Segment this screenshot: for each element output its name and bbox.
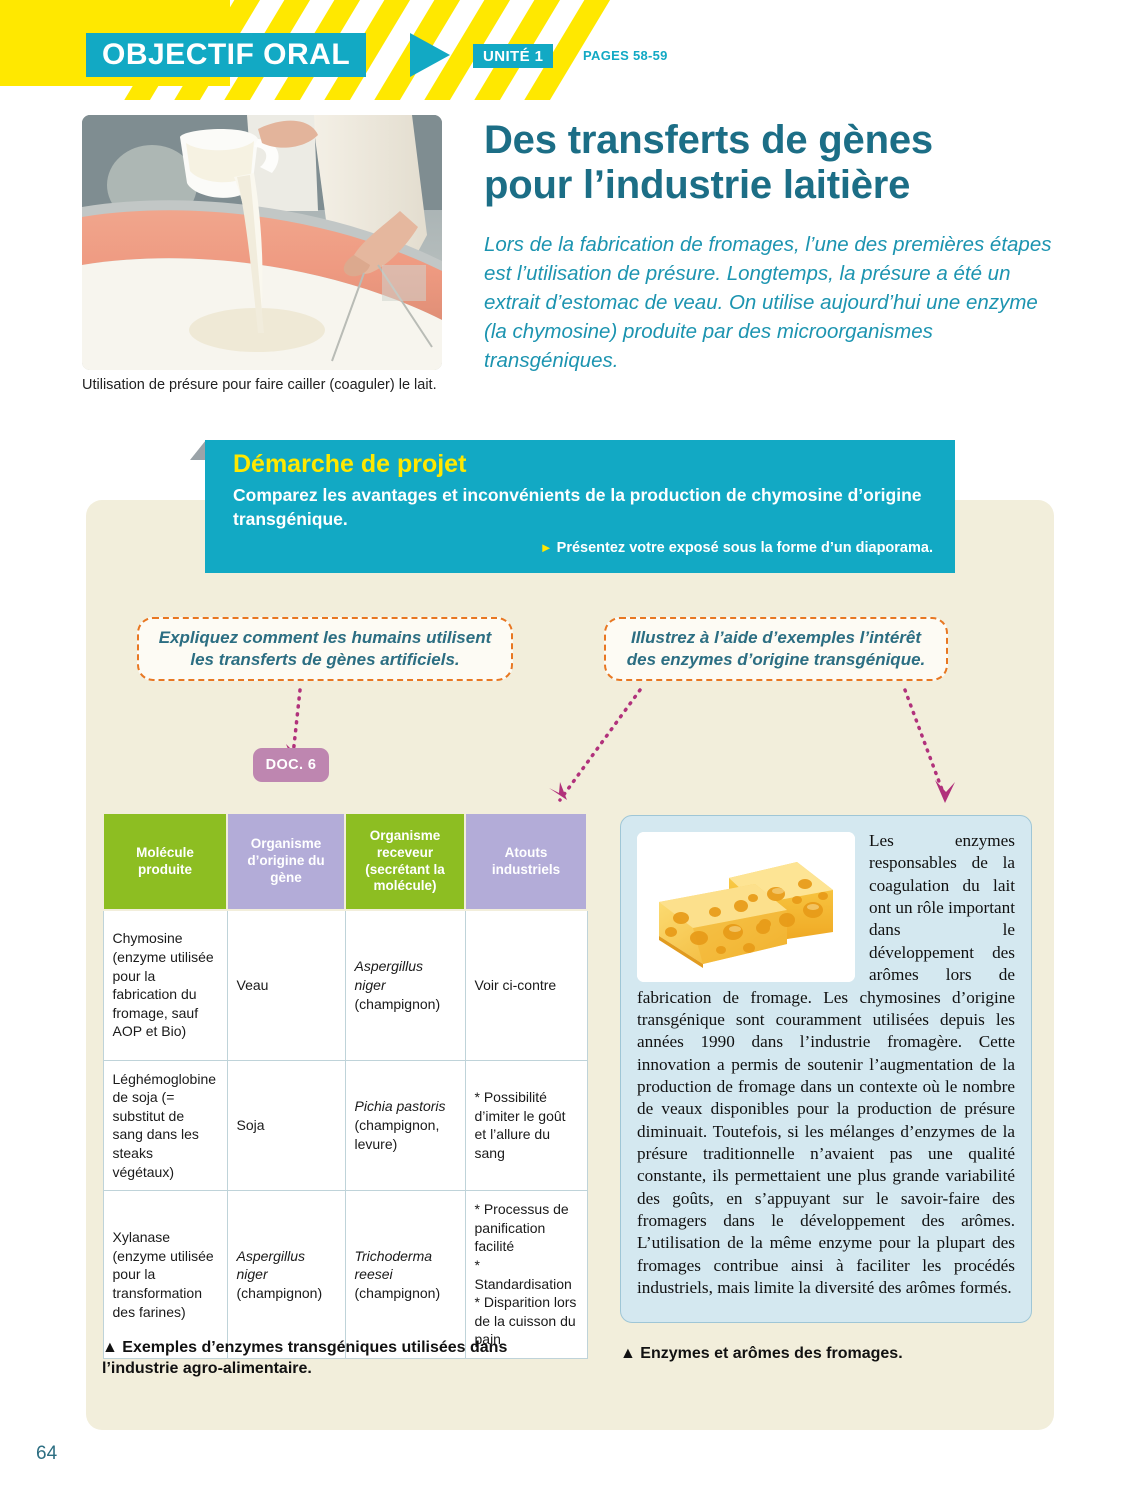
hdr-line: receveur bbox=[377, 845, 433, 860]
table-caption: ▲ Exemples d’enzymes transgéniques utili… bbox=[102, 1337, 572, 1379]
cell-assets: * Processus de panification facilité * S… bbox=[465, 1191, 587, 1359]
objective-label: OBJECTIF ORAL bbox=[102, 38, 350, 72]
title-block: Des transferts de gènes pour l’industrie… bbox=[484, 118, 1054, 375]
hdr-line: Molécule bbox=[136, 845, 194, 860]
cell-receiver: Trichoderma reesei (champignon) bbox=[345, 1191, 465, 1359]
caption-up-triangle-icon: ▲ bbox=[102, 1339, 118, 1356]
demarche-box: Démarche de projet Comparez les avantage… bbox=[205, 440, 955, 573]
demarche-note-text: Présentez votre exposé sous la forme d’u… bbox=[557, 540, 933, 556]
table-row: Xylanase (enzyme utilisée pour la transf… bbox=[103, 1191, 587, 1359]
emmental-cheese-photo bbox=[637, 832, 855, 982]
table-caption-text: Exemples d’enzymes transgéniques utilisé… bbox=[102, 1339, 507, 1377]
hdr-line: (secrétant la bbox=[365, 862, 445, 877]
hdr-line: d’origine du bbox=[247, 853, 324, 868]
cheese-doc-card: Les enzymes responsables de la coagulati… bbox=[620, 815, 1032, 1323]
caption-up-triangle-icon: ▲ bbox=[620, 1345, 636, 1362]
question-1-line1: Expliquez comment les humains utilisent bbox=[159, 628, 492, 647]
species-name: Aspergillus niger bbox=[355, 958, 423, 993]
cell-molecule: Chymosine (enzyme utilisée pour la fabri… bbox=[103, 910, 227, 1060]
page-title-line2: pour l’industrie laitière bbox=[484, 163, 910, 207]
milk-pouring-photo bbox=[82, 115, 442, 370]
page-title: Des transferts de gènes pour l’industrie… bbox=[484, 118, 1054, 208]
cell-molecule: Léghémoglobine de soja (= substitut de s… bbox=[103, 1060, 227, 1191]
question-2-line1: Illustrez à l’aide d’exemples l’intérêt bbox=[631, 628, 921, 647]
enzymes-table: Molécule produite Organisme d’origine du… bbox=[102, 812, 588, 1359]
photo-caption: Utilisation de présure pour faire caille… bbox=[82, 377, 502, 393]
cell-assets: Voir ci-contre bbox=[465, 910, 587, 1060]
species-qualifier: (champignon, levure) bbox=[355, 1117, 440, 1152]
table-header-receiver: Organisme receveur (secrétant la molécul… bbox=[345, 813, 465, 910]
unit-label: UNITÉ 1 bbox=[483, 48, 543, 65]
page-title-line1: Des transferts de gènes bbox=[484, 118, 933, 162]
species-qualifier: (champignon) bbox=[355, 996, 441, 1012]
hdr-line: Organisme bbox=[251, 836, 322, 851]
hdr-line: produite bbox=[138, 862, 192, 877]
cell-origin: Aspergillus niger (champignon) bbox=[227, 1191, 345, 1359]
doc-6-badge[interactable]: DOC. 6 bbox=[253, 748, 329, 782]
question-bubble-2[interactable]: Illustrez à l’aide d’exemples l’intérêt … bbox=[604, 617, 948, 681]
demarche-body: Comparez les avantages et inconvénients … bbox=[233, 484, 933, 532]
table-header-molecule: Molécule produite bbox=[103, 813, 227, 910]
species-qualifier: (champignon) bbox=[237, 1285, 323, 1301]
unit-tag: UNITÉ 1 bbox=[473, 44, 553, 68]
species-name: Pichia pastoris bbox=[355, 1098, 446, 1114]
lead-paragraph: Lors de la fabrication de fromages, l’un… bbox=[484, 230, 1054, 376]
table-row: Léghémoglobine de soja (= substitut de s… bbox=[103, 1060, 587, 1191]
right-doc-caption-text: Enzymes et arômes des fromages. bbox=[640, 1345, 902, 1362]
table-header-origin: Organisme d’origine du gène bbox=[227, 813, 345, 910]
cell-origin: Soja bbox=[227, 1060, 345, 1191]
species-name: Aspergillus niger bbox=[237, 1248, 305, 1283]
species-qualifier: (champignon) bbox=[355, 1285, 441, 1301]
demarche-fold-corner bbox=[190, 440, 206, 460]
species-name: Trichoderma reesei bbox=[355, 1248, 433, 1283]
cell-receiver: Pichia pastoris (champignon, levure) bbox=[345, 1060, 465, 1191]
cell-receiver: Aspergillus niger (champignon) bbox=[345, 910, 465, 1060]
cell-molecule: Xylanase (enzyme utilisée pour la transf… bbox=[103, 1191, 227, 1359]
table-header-row: Molécule produite Organisme d’origine du… bbox=[103, 813, 587, 910]
hdr-line: molécule) bbox=[373, 878, 436, 893]
objective-arrow-icon bbox=[410, 33, 450, 77]
question-2-line2: des enzymes d’origine transgénique. bbox=[627, 650, 926, 669]
demarche-title: Démarche de projet bbox=[233, 450, 466, 479]
page-number: 64 bbox=[36, 1443, 57, 1465]
question-1-line2: les transferts de gènes artificiels. bbox=[190, 650, 459, 669]
question-bubble-1[interactable]: Expliquez comment les humains utilisent … bbox=[137, 617, 513, 681]
pages-label: PAGES 58-59 bbox=[583, 48, 668, 63]
hdr-line: Atouts bbox=[505, 845, 548, 860]
cell-assets: * Possibilité d’imiter le goût et l’allu… bbox=[465, 1060, 587, 1191]
page-banner: OBJECTIF ORAL UNITÉ 1 PAGES 58-59 bbox=[0, 0, 1125, 100]
note-arrow-icon: ► bbox=[540, 540, 553, 555]
cell-origin: Veau bbox=[227, 910, 345, 1060]
objective-tag: OBJECTIF ORAL bbox=[86, 33, 366, 77]
intro-photo-block: Utilisation de présure pour faire caille… bbox=[82, 115, 442, 370]
right-doc-caption: ▲ Enzymes et arômes des fromages. bbox=[620, 1345, 1040, 1363]
hdr-line: gène bbox=[270, 870, 302, 885]
doc-6-label: DOC. 6 bbox=[266, 757, 317, 773]
hdr-line: Organisme bbox=[370, 828, 441, 843]
demarche-note: ► Présentez votre exposé sous la forme d… bbox=[540, 540, 933, 556]
hdr-line: industriels bbox=[492, 862, 560, 877]
table-header-assets: Atouts industriels bbox=[465, 813, 587, 910]
table-row: Chymosine (enzyme utilisée pour la fabri… bbox=[103, 910, 587, 1060]
